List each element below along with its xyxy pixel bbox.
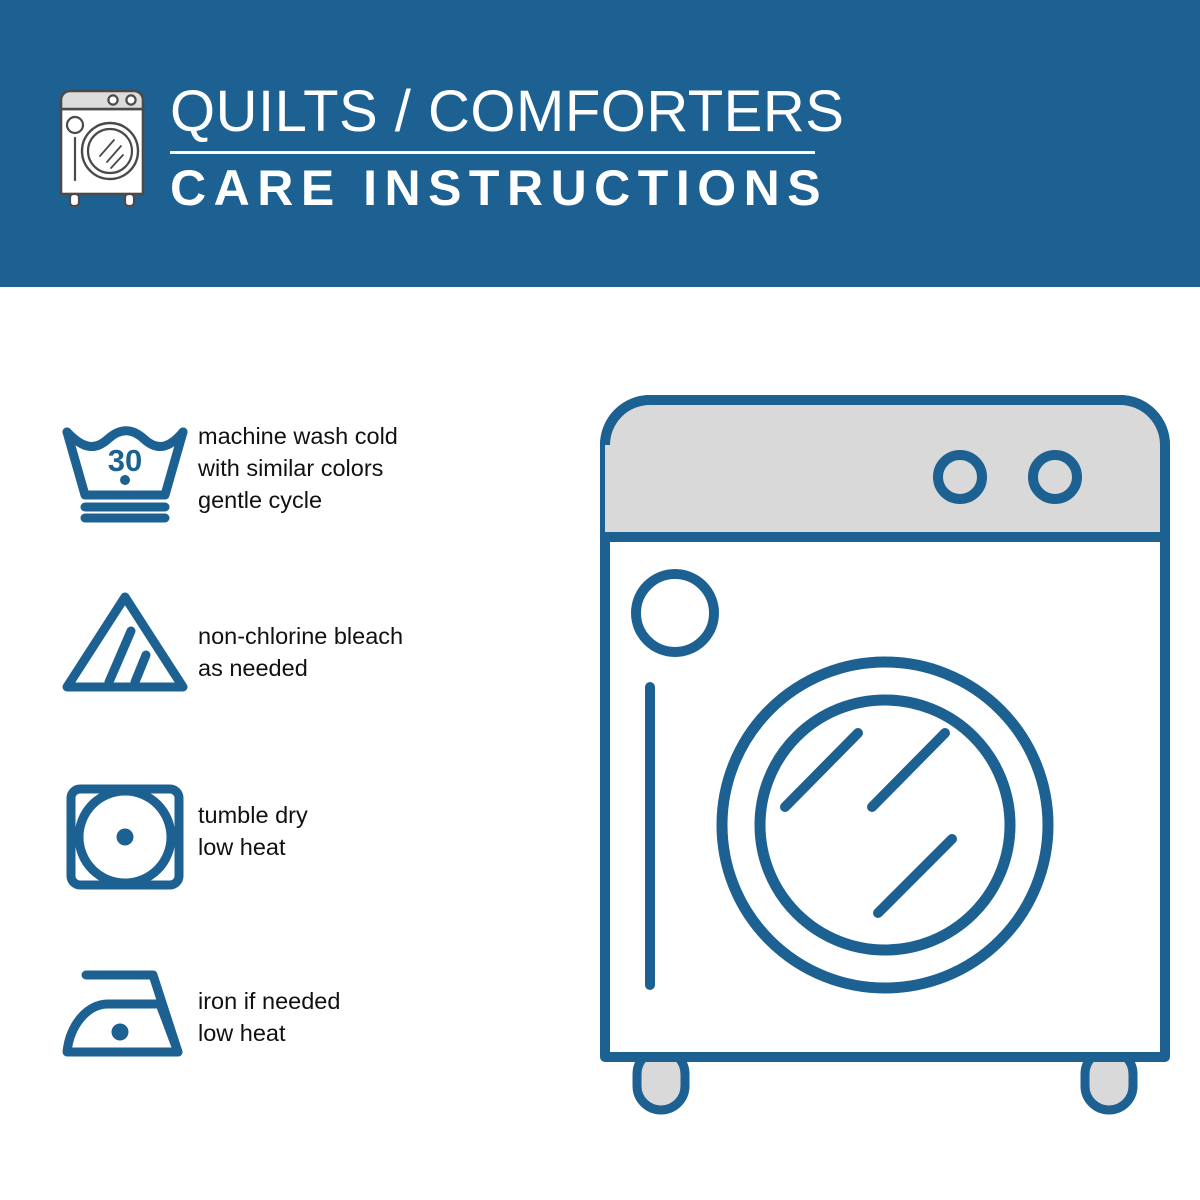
care-row-text: iron if needed low heat [198, 952, 340, 1049]
care-row: tumble dry low heat [60, 782, 530, 892]
washer-knob-right [1033, 455, 1077, 499]
care-row-text: tumble dry low heat [198, 782, 308, 863]
care-text-line: as needed [198, 652, 403, 684]
care-row: non-chlorine bleach as needed [60, 587, 530, 697]
page-title: QUILTS / COMFORTERS [170, 82, 844, 142]
title-divider [170, 151, 815, 154]
washer-indicator-light [636, 574, 714, 652]
header-content: QUILTS / COMFORTERS CARE INSTRUCTIONS [48, 78, 844, 215]
care-text-line: gentle cycle [198, 484, 398, 516]
care-row-text: non-chlorine bleach as needed [198, 587, 403, 684]
page-header: QUILTS / COMFORTERS CARE INSTRUCTIONS [0, 0, 1200, 287]
machine-wash-30-icon: 30 [60, 417, 190, 527]
washing-machine-illustration [600, 395, 1170, 1125]
care-text-line: low heat [198, 831, 308, 863]
wash-temp-label: 30 [108, 443, 142, 478]
care-instructions-list: 30 machine wash cold with similar colors… [0, 287, 560, 1200]
page-subtitle: CARE INSTRUCTIONS [170, 161, 844, 215]
tumble-dry-low-icon [60, 782, 190, 892]
header-title-block: QUILTS / COMFORTERS CARE INSTRUCTIONS [170, 78, 844, 215]
non-chlorine-bleach-icon [60, 587, 190, 697]
washer-control-panel [605, 400, 1165, 537]
washing-machine-icon [48, 78, 156, 208]
care-row: 30 machine wash cold with similar colors… [60, 417, 530, 527]
care-row-text: machine wash cold with similar colors ge… [198, 417, 398, 516]
care-text-line: non-chlorine bleach [198, 620, 403, 652]
care-text-line: low heat [198, 1017, 340, 1049]
care-text-line: tumble dry [198, 799, 308, 831]
care-row: iron if needed low heat [60, 952, 530, 1062]
care-text-line: with similar colors [198, 452, 398, 484]
care-text-line: iron if needed [198, 985, 340, 1017]
washer-knob-left [938, 455, 982, 499]
iron-low-heat-icon [60, 952, 190, 1062]
care-text-line: machine wash cold [198, 420, 398, 452]
